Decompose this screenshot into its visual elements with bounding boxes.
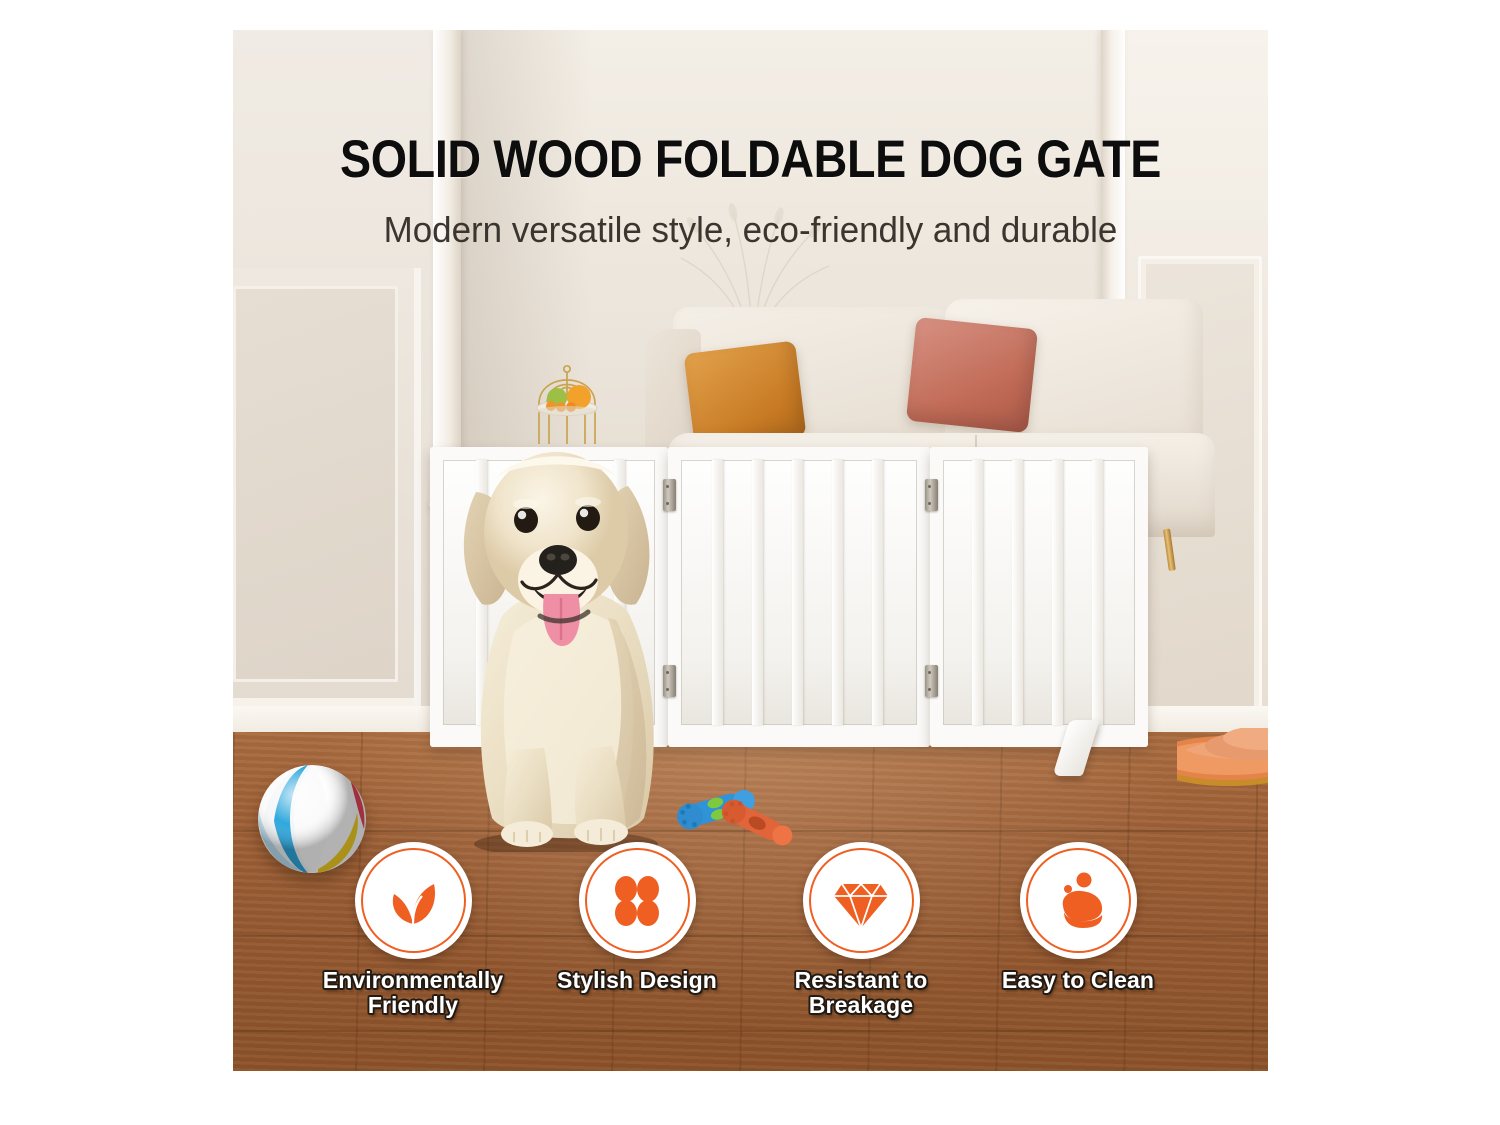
feature-badges: Environmentally Friendly Stylish Design (233, 842, 1268, 1057)
feature-label-line2: Friendly (368, 992, 458, 1018)
leaf-icon (382, 870, 444, 932)
feature-label: Environmentally Friendly (318, 968, 508, 1018)
feature-badge-circle (579, 842, 696, 959)
feature-label: Easy to Clean (983, 968, 1173, 993)
feature-stylish-design[interactable]: Stylish Design (542, 842, 732, 993)
gate-panel-right (930, 447, 1148, 747)
page-subtitle: Modern versatile style, eco-friendly and… (249, 208, 1253, 251)
feature-badge-circle (1020, 842, 1137, 959)
gate-panel-center (668, 447, 930, 747)
feature-label-line1: Resistant to (795, 967, 928, 993)
dog-chew-toys (673, 780, 803, 850)
feature-label: Resistant to Breakage (766, 968, 956, 1018)
feature-easy-to-clean[interactable]: Easy to Clean (983, 842, 1173, 993)
feature-badge-circle (803, 842, 920, 959)
feature-resistant-to-breakage[interactable]: Resistant to Breakage (766, 842, 956, 1018)
gate-panel-frame (930, 447, 1148, 747)
orange-tray (1177, 728, 1268, 790)
page-root: SOLID WOOD FOLDABLE DOG GATE Modern vers… (0, 0, 1500, 1125)
gate-hinge (925, 479, 938, 511)
gate-slat (792, 460, 803, 725)
gate-slat (752, 460, 763, 725)
gate-slat (1052, 460, 1063, 725)
gate-slat (1092, 460, 1103, 725)
feature-badge-circle (355, 842, 472, 959)
page-title: SOLID WOOD FOLDABLE DOG GATE (295, 133, 1206, 186)
diamond-icon (830, 870, 892, 932)
product-hero-image: SOLID WOOD FOLDABLE DOG GATE Modern vers… (233, 30, 1268, 1071)
feature-environmentally-friendly[interactable]: Environmentally Friendly (318, 842, 508, 1018)
feature-label-line2: Breakage (809, 992, 913, 1018)
gate-slat (832, 460, 843, 725)
left-wall-panel (233, 268, 421, 742)
gate-slat (972, 460, 983, 725)
feature-label: Stylish Design (542, 968, 732, 993)
gate-slat (712, 460, 723, 725)
feature-label-line1: Stylish Design (557, 967, 717, 993)
gate-slat (1012, 460, 1023, 725)
feature-label-line1: Easy to Clean (1002, 967, 1154, 993)
gate-slat (872, 460, 883, 725)
golden-retriever-dog (448, 420, 678, 852)
pillow-rose (906, 317, 1038, 433)
gate-hinge (925, 665, 938, 697)
sponge-icon (1047, 870, 1109, 932)
clover-icon (608, 872, 666, 930)
feature-label-line1: Environmentally (323, 967, 503, 993)
